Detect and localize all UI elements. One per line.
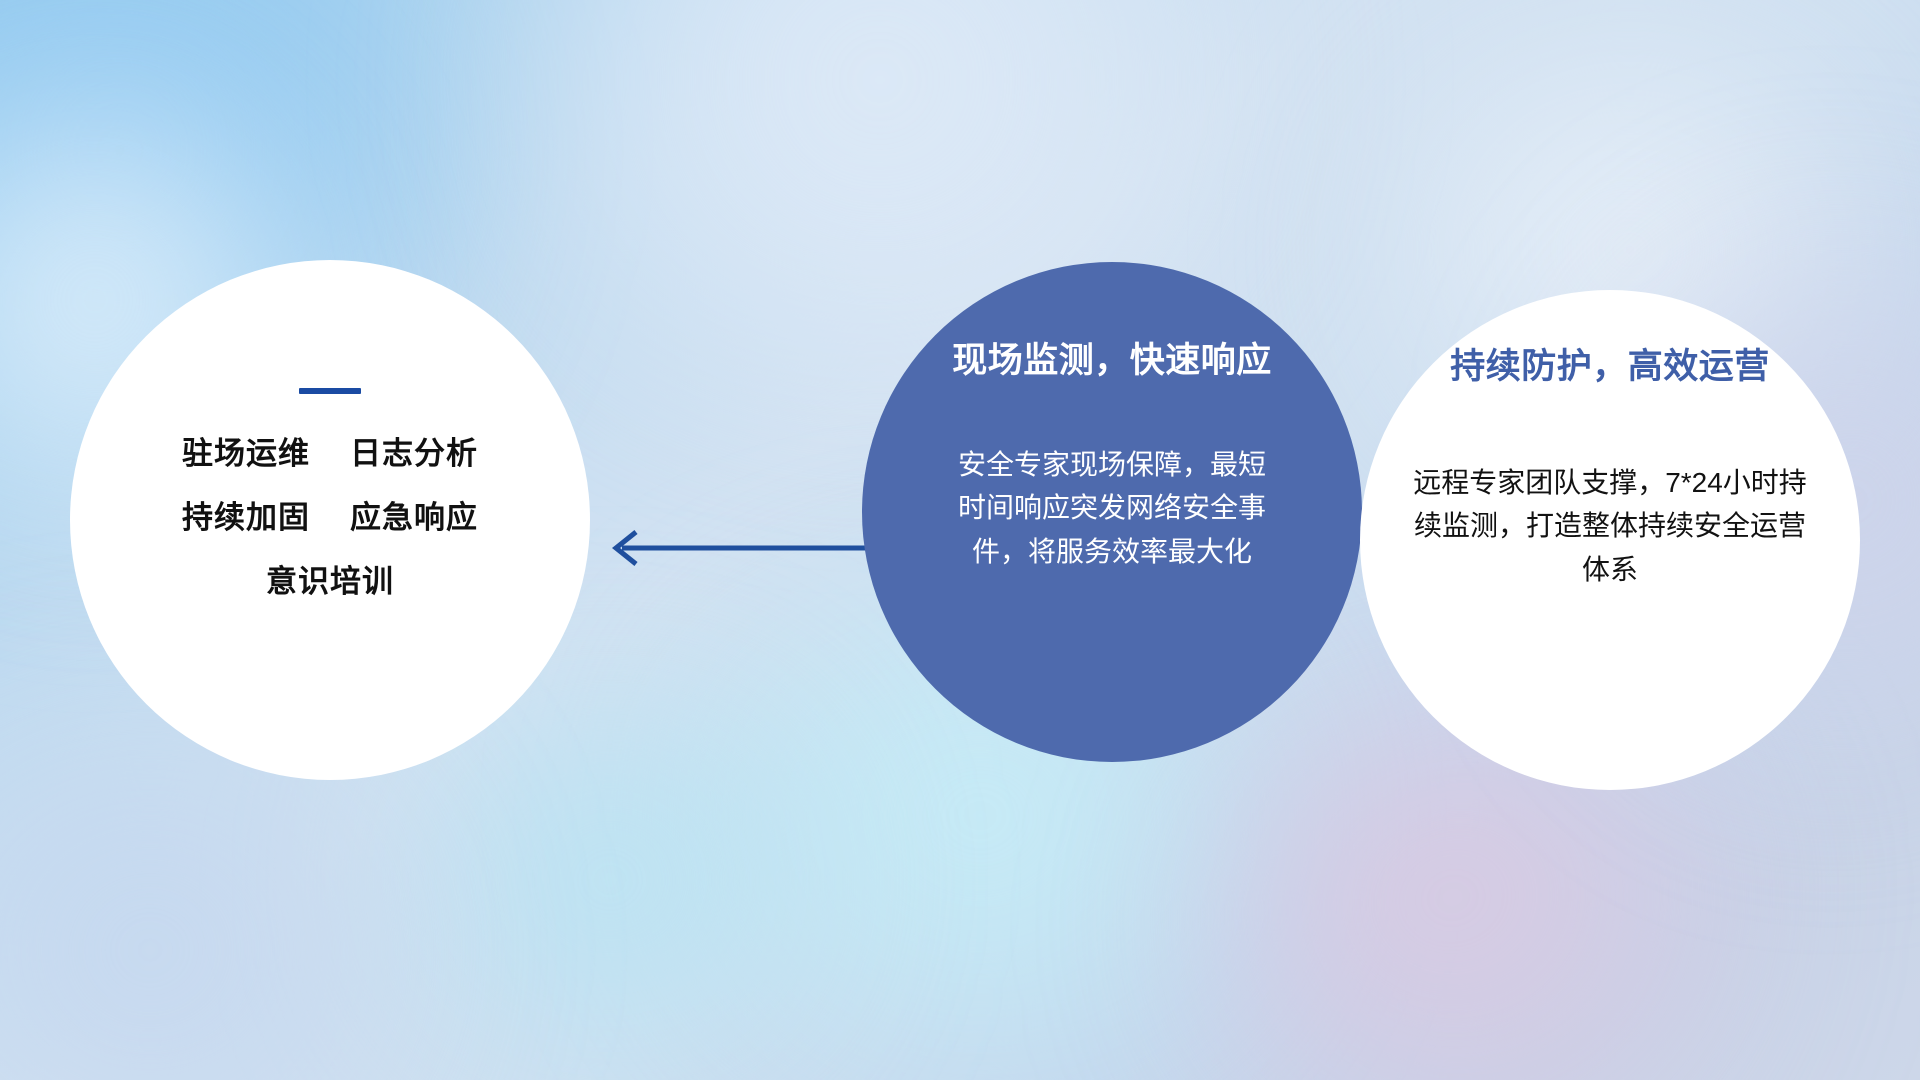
capability-item-awareness-training: 意识培训 [70, 566, 590, 597]
capability-circle-right[interactable]: 持续防护，高效运营 远程专家团队支撑，7*24小时持续监测，打造整体持续安全运营… [1360, 290, 1860, 790]
flow-arrow-left-icon [600, 522, 880, 574]
capability-row: 驻场运维 日志分析 [70, 438, 590, 469]
accent-divider [299, 388, 361, 394]
capability-item-onsite-ops: 驻场运维 [182, 438, 310, 469]
slide-canvas: 驻场运维 日志分析 持续加固 应急响应 意识培训 现场监测，快速响应 安全专家现… [0, 0, 1920, 1080]
right-circle-body: 远程专家团队支撑，7*24小时持续监测，打造整体持续安全运营体系 [1410, 461, 1810, 591]
capability-list: 驻场运维 日志分析 持续加固 应急响应 意识培训 [70, 438, 590, 597]
capability-row: 持续加固 应急响应 [70, 502, 590, 533]
capability-circle-middle[interactable]: 现场监测，快速响应 安全专家现场保障，最短时间响应突发网络安全事件，将服务效率最… [862, 262, 1362, 762]
capability-item-log-analysis: 日志分析 [350, 438, 478, 469]
right-circle-title: 持续防护，高效运营 [1450, 338, 1770, 389]
capability-item-emergency-response: 应急响应 [350, 502, 478, 533]
middle-circle-body: 安全专家现场保障，最短时间响应突发网络安全事件，将服务效率最大化 [947, 443, 1277, 573]
capability-item-continuous-hardening: 持续加固 [182, 502, 310, 533]
capability-circle-left[interactable]: 驻场运维 日志分析 持续加固 应急响应 意识培训 [70, 260, 590, 780]
middle-circle-title: 现场监测，快速响应 [952, 332, 1272, 383]
